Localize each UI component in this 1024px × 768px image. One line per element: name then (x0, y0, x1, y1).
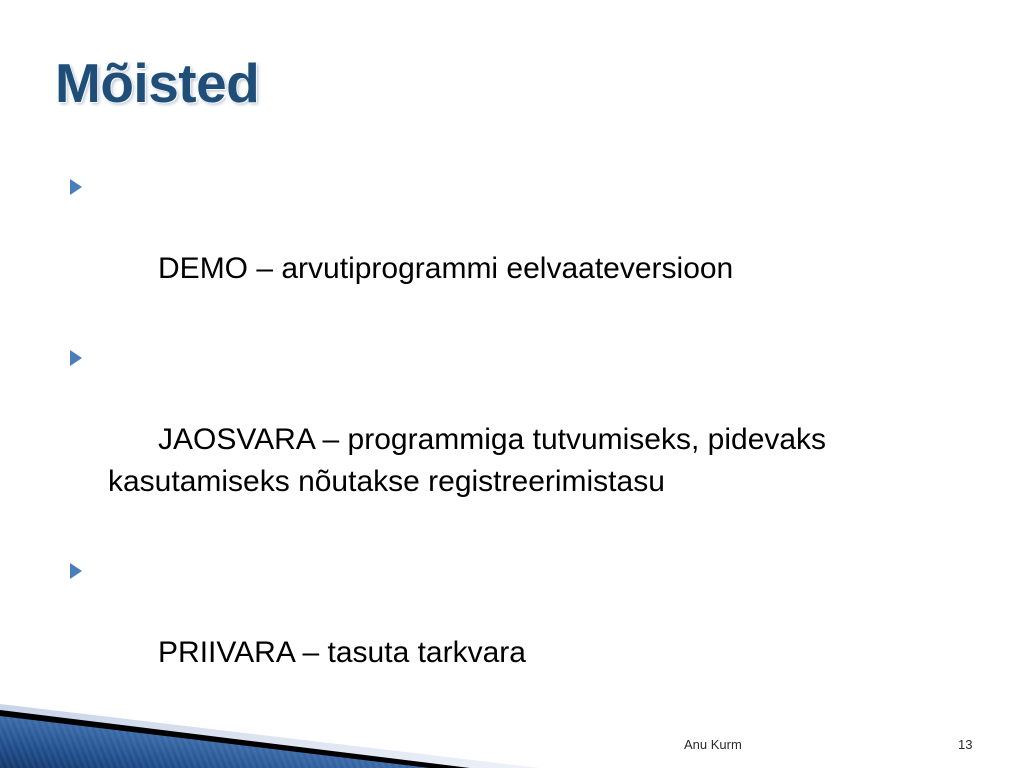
slide-canvas: Mõisted DEMO – arvutiprogrammi eelvaatev… (0, 0, 1024, 768)
triangle-bullet-icon (70, 734, 82, 750)
list-item-text: DEMO – arvutiprogrammi eelvaateversioon (158, 252, 733, 285)
footer-author: Anu Kurm (684, 737, 742, 752)
list-item-text: JAOSVARA – programmiga tutvumiseks, pide… (108, 423, 834, 498)
triangle-bullet-icon (70, 563, 82, 579)
bullet-list: DEMO – arvutiprogrammi eelvaateversioon … (60, 164, 990, 768)
list-item: JAOSVARA – programmiga tutvumiseks, pide… (60, 335, 990, 545)
triangle-bullet-icon (70, 179, 82, 195)
page-title: Mõisted (55, 55, 259, 113)
triangle-bullet-icon (70, 350, 82, 366)
list-item: PRIIVARA – tasuta tarkvara (60, 548, 990, 716)
list-item: DEMO – arvutiprogrammi eelvaateversioon (60, 164, 990, 332)
footer-page-number: 13 (958, 737, 972, 752)
list-item-text: PRIIVARA – tasuta tarkvara (158, 636, 526, 669)
list-item: PROOVIVARA – võib teatud aja kasutada, k… (60, 719, 990, 768)
